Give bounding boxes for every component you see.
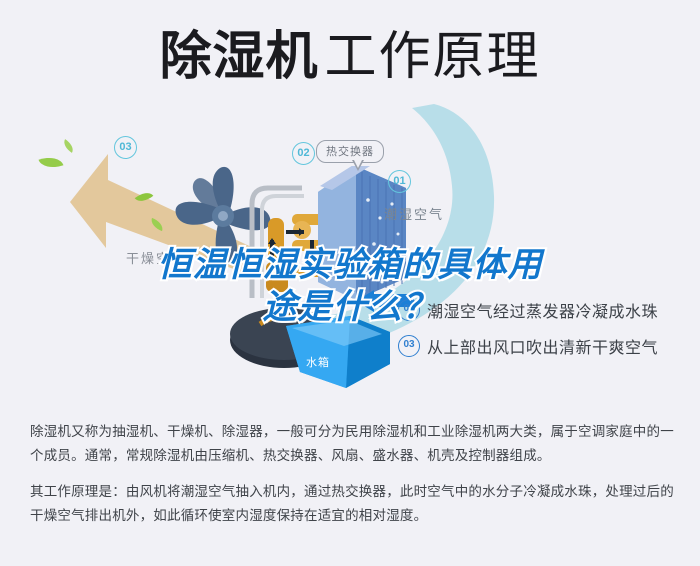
badge-02: 02 — [292, 142, 315, 165]
list-item: 03 从上部出风口吹出清新干爽空气 — [398, 328, 698, 364]
badge-03: 03 — [114, 136, 137, 159]
callout-tail-icon — [352, 160, 364, 171]
leaf-icon — [39, 153, 64, 172]
badge-01: 01 — [388, 170, 411, 193]
page-title: 除湿机工作原理 — [0, 26, 700, 88]
title-secondary: 工作原理 — [325, 26, 541, 88]
overlay-headline: 恒温恒湿实验箱的具体用 途是什么？ — [0, 244, 700, 328]
overlay-headline-line-2: 途是什么？ — [0, 286, 700, 328]
humid-air-label: 潮湿空气 — [384, 204, 444, 223]
water-tank-label: 水箱 — [306, 354, 330, 370]
body-copy: 除湿机又称为抽湿机、干燥机、除湿器，一般可分为民用除湿机和工业除湿机两大类，属于… — [30, 420, 676, 540]
title-primary: 除湿机 — [159, 26, 318, 88]
body-paragraph-1: 除湿机又称为抽湿机、干燥机、除湿器，一般可分为民用除湿机和工业除湿机两大类，属于… — [30, 420, 676, 468]
body-paragraph-2: 其工作原理是：由风机将潮湿空气抽入机内，通过热交换器，此时空气中的水分子冷凝成水… — [30, 480, 676, 528]
infographic-page: 除湿机工作原理 干燥空气 — [0, 0, 700, 566]
bullet-number: 03 — [398, 335, 420, 357]
overlay-headline-line-1: 恒温恒湿实验箱的具体用 — [0, 244, 700, 286]
water-tank-icon — [280, 316, 392, 405]
bullet-label: 从上部出风口吹出清新干爽空气 — [427, 334, 658, 358]
heat-exchanger-callout: 热交换器 — [316, 140, 384, 163]
